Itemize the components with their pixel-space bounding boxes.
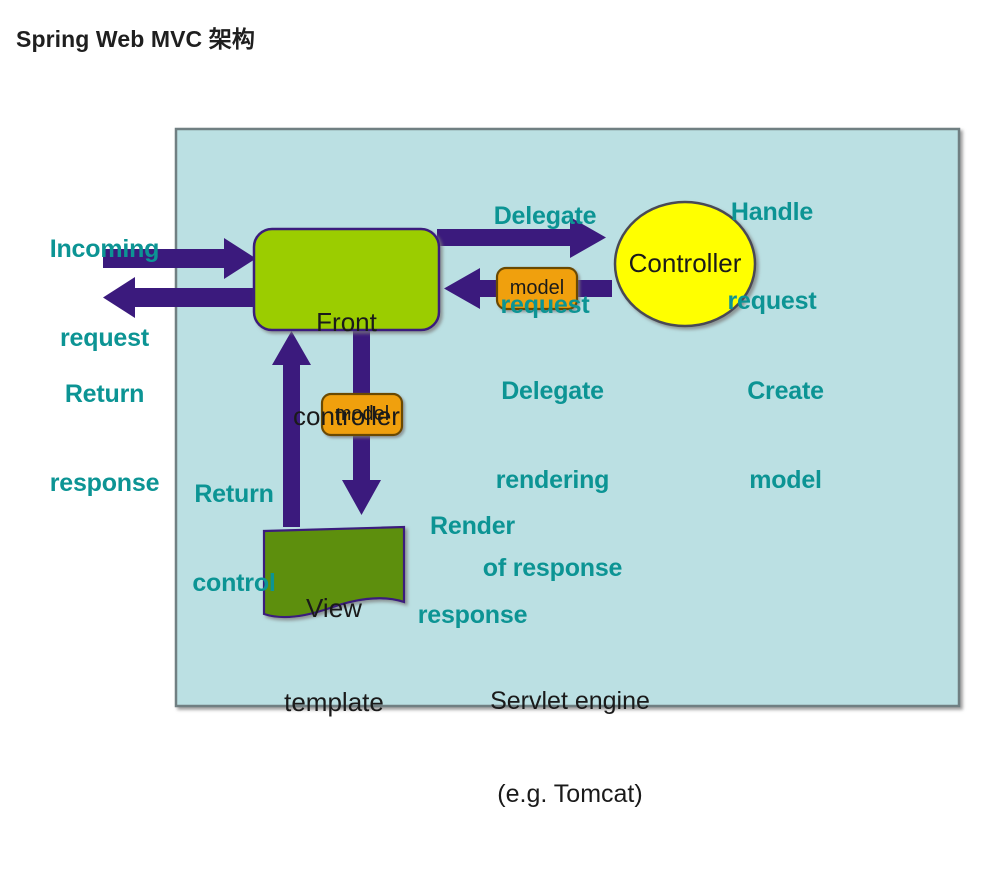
spring-mvc-architecture-diagram: Incoming request Return response Delegat… xyxy=(0,0,992,723)
node-front-controller-label: Front controller xyxy=(254,245,439,495)
servlet-engine-caption: Servlet engine (e.g. Tomcat) xyxy=(420,623,720,873)
label-render-response-line1: Render xyxy=(385,512,560,542)
servlet-engine-caption-line2: (e.g. Tomcat) xyxy=(420,779,720,810)
label-create-model: Create model xyxy=(708,318,863,554)
node-front-controller-line1: Front xyxy=(254,307,439,338)
servlet-engine-caption-line1: Servlet engine xyxy=(420,686,720,717)
label-delegate-rendering-line1: Delegate xyxy=(460,377,645,407)
label-create-model-line2: model xyxy=(708,466,863,496)
label-return-response-line1: Return xyxy=(22,380,187,410)
node-controller-label: Controller xyxy=(615,248,755,279)
label-delegate-request-line1: Delegate xyxy=(455,202,635,232)
label-handle-request-line2: request xyxy=(692,287,852,317)
node-view-template-line1: View xyxy=(264,593,404,624)
label-create-model-line1: Create xyxy=(708,377,863,407)
node-view-template-label: View template xyxy=(264,531,404,781)
model-badge-controller-label: model xyxy=(497,278,577,298)
node-view-template-line2: template xyxy=(264,687,404,718)
label-incoming-request-line1: Incoming xyxy=(22,235,187,265)
model-badge-view-label: model xyxy=(322,404,402,424)
label-handle-request-line1: Handle xyxy=(692,198,852,228)
